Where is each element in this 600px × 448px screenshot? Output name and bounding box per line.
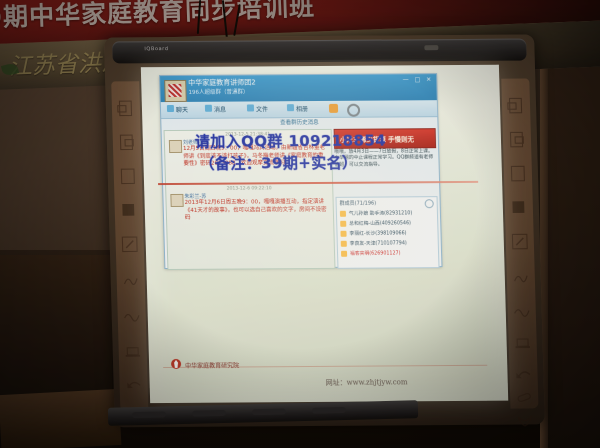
status-dot bbox=[340, 221, 346, 227]
pen-slot[interactable] bbox=[312, 407, 346, 414]
window-controls[interactable]: — □ ✕ bbox=[403, 76, 434, 83]
tab-chat[interactable]: 聊天 bbox=[167, 105, 188, 114]
laptop-icon[interactable] bbox=[513, 334, 532, 352]
member-name: 总和红梅-山西(409260546) bbox=[349, 219, 411, 226]
laptop-icon[interactable] bbox=[124, 343, 143, 361]
pen-slot[interactable] bbox=[252, 408, 286, 415]
status-dot bbox=[341, 241, 347, 247]
eraser-icon[interactable] bbox=[515, 388, 534, 406]
status-dot bbox=[340, 231, 346, 237]
member-name: 气儿孙娘 助手涛(82931210) bbox=[349, 209, 412, 216]
tab-files[interactable]: 文件 bbox=[247, 104, 268, 113]
member-row[interactable]: 气儿孙娘 助手涛(82931210) bbox=[340, 209, 433, 218]
projection-screen[interactable]: 中华家庭教育讲师团2 196人超级群（普通群） — □ ✕ 聊天 消息 文件 相… bbox=[141, 65, 508, 403]
squiggle-icon[interactable] bbox=[513, 302, 532, 320]
message-text: 2013年12月6日周五晚9：00，嘎嘎演播互动，指定演讲《41天才的故事》，也… bbox=[185, 199, 330, 222]
slide-headline-line1: 请加入QQ群 109218854 bbox=[195, 130, 387, 152]
pen-box-icon[interactable] bbox=[511, 232, 530, 250]
slide-headline-line2: （备注：39期+实名） bbox=[199, 152, 357, 174]
org-logo-icon bbox=[171, 359, 181, 369]
member-row[interactable]: 李丽红-长沙(398109066) bbox=[340, 229, 433, 238]
interactive-whiteboard[interactable]: IQBoard bbox=[104, 34, 545, 427]
photo-scene: 9期中华家庭教育同步培训班 江苏省洪泽县实验小学 IQBoard bbox=[0, 0, 600, 448]
member-name: 李良友-天津(710107794) bbox=[350, 239, 407, 246]
page-prev-icon[interactable] bbox=[117, 99, 136, 117]
site-url: 网址：www.zhjtjyw.com bbox=[326, 377, 408, 388]
gear-icon[interactable] bbox=[347, 104, 360, 117]
user-avatar bbox=[170, 194, 183, 207]
pen-slot[interactable] bbox=[132, 411, 166, 418]
dark-cabinet bbox=[548, 28, 600, 448]
status-dot bbox=[341, 251, 347, 257]
tab-album[interactable]: 相册 bbox=[287, 104, 308, 113]
new-page-icon[interactable] bbox=[509, 165, 528, 183]
status-dot bbox=[340, 211, 346, 217]
qq-tab-bar[interactable]: 聊天 消息 文件 相册 bbox=[161, 100, 438, 119]
undo-icon[interactable] bbox=[124, 377, 143, 395]
history-notice[interactable]: 查看群历史消息 bbox=[161, 117, 437, 129]
member-name: 李丽红-长沙(398109066) bbox=[349, 229, 406, 236]
page-next-icon[interactable] bbox=[118, 133, 137, 151]
whiteboard-brand: IQBoard bbox=[144, 46, 168, 52]
new-page-icon[interactable] bbox=[119, 167, 138, 185]
member-icon[interactable] bbox=[329, 104, 338, 113]
chat-message: 2013-12-6 09:22:10 朱彩兰-苏 2013年12月6日周五晚9：… bbox=[170, 186, 329, 223]
pen-box-icon[interactable] bbox=[120, 235, 139, 253]
squiggle-icon[interactable] bbox=[122, 307, 141, 325]
member-list-header: 群成员(71/196) bbox=[340, 200, 377, 207]
pen-icon[interactable] bbox=[512, 268, 531, 286]
fill-icon[interactable] bbox=[510, 199, 529, 217]
member-row[interactable]: 福客夹明(626901127) bbox=[341, 249, 434, 258]
member-row[interactable]: 李良友-天津(710107794) bbox=[341, 239, 434, 248]
group-avatar bbox=[164, 80, 187, 102]
qq-group-name: 中华家庭教育讲师团2 bbox=[188, 77, 256, 87]
user-avatar bbox=[169, 140, 182, 153]
undo-icon[interactable] bbox=[514, 366, 533, 384]
ir-sensor bbox=[424, 45, 438, 50]
org-name: 中华家庭教育研究院 bbox=[185, 360, 239, 369]
whiteboard-top-bar bbox=[112, 39, 527, 64]
member-list-panel[interactable]: 群成员(71/196) 气儿孙娘 助手涛(82931210) 总和红梅-山西(4… bbox=[335, 196, 439, 269]
desk bbox=[0, 389, 121, 448]
tab-messages[interactable]: 消息 bbox=[205, 105, 226, 114]
phone-icon[interactable] bbox=[516, 412, 535, 430]
search-icon[interactable] bbox=[425, 199, 434, 208]
pen-icon[interactable] bbox=[121, 271, 140, 289]
member-row[interactable]: 总和红梅-山西(409260546) bbox=[340, 219, 433, 228]
fill-icon[interactable] bbox=[120, 201, 139, 219]
page-prev-icon[interactable] bbox=[507, 97, 526, 115]
qq-group-subtitle: 196人超级群（普通群） bbox=[188, 87, 248, 95]
pen-slot[interactable] bbox=[192, 410, 226, 417]
page-next-icon[interactable] bbox=[508, 131, 527, 149]
member-name: 福客夹明(626901127) bbox=[350, 249, 401, 256]
projected-slide: 中华家庭教育讲师团2 196人超级群（普通群） — □ ✕ 聊天 消息 文件 相… bbox=[141, 65, 508, 403]
